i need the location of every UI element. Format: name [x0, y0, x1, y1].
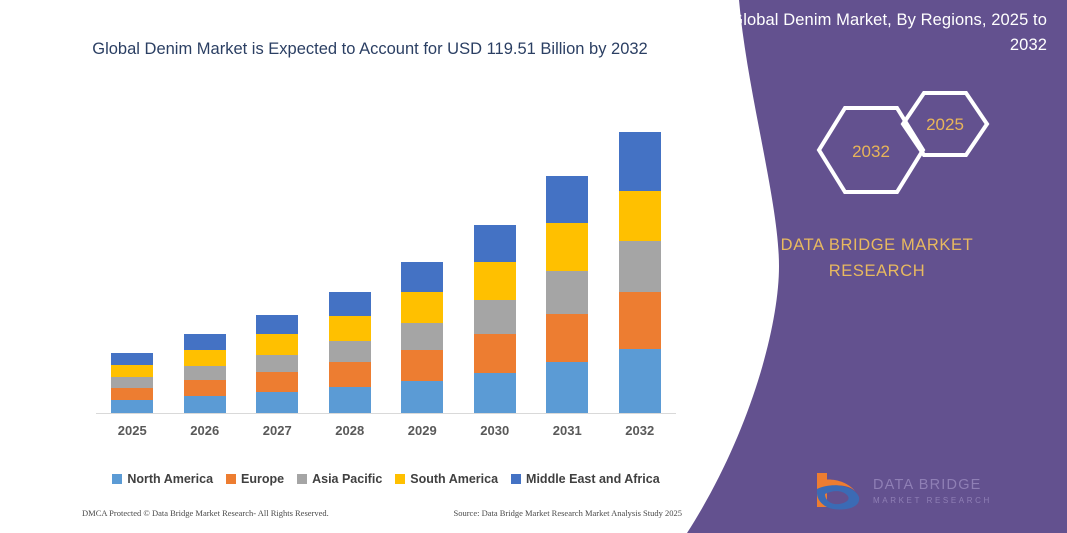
bar-segment — [474, 334, 516, 373]
bar-segment — [474, 262, 516, 301]
bar-segment — [474, 373, 516, 413]
bar-segment — [329, 341, 371, 363]
logo-mark-icon — [817, 473, 859, 510]
logo-text-bottom: MARKET RESEARCH — [873, 496, 992, 505]
bar-segment — [619, 292, 661, 349]
legend-swatch-icon — [395, 474, 405, 484]
legend-item: North America — [112, 472, 213, 486]
bar-segment — [256, 334, 298, 354]
bar-segment — [401, 350, 443, 381]
bar-segment — [256, 372, 298, 392]
brand-name-line1: DATA BRIDGE MARKET — [717, 232, 1037, 258]
legend-swatch-icon — [511, 474, 521, 484]
x-axis-label: 2028 — [314, 423, 386, 438]
bar-column — [459, 110, 531, 413]
legend-label: Middle East and Africa — [526, 472, 660, 486]
stacked-bar — [111, 353, 153, 413]
legend-item: South America — [395, 472, 498, 486]
bar-segment — [184, 350, 226, 366]
panel-title: Global Denim Market, By Regions, 2025 to… — [707, 8, 1047, 58]
hexagon-graphic: 2025 2032 — [761, 88, 1011, 213]
bar-segment — [401, 292, 443, 323]
company-logo: DATA BRIDGE MARKET RESEARCH — [805, 467, 1015, 513]
bar-segment — [184, 396, 226, 413]
bar-segment — [111, 365, 153, 377]
x-axis-label: 2029 — [386, 423, 458, 438]
bar-segment — [546, 362, 588, 413]
bar-column — [386, 110, 458, 413]
infographic-page: Global Denim Market is Expected to Accou… — [0, 0, 1067, 533]
footer-copyright: DMCA Protected © Data Bridge Market Rese… — [82, 508, 329, 518]
page-title: Global Denim Market is Expected to Accou… — [60, 36, 680, 62]
bar-segment — [329, 316, 371, 341]
logo-text-top: DATA BRIDGE — [873, 477, 982, 493]
bar-segment — [619, 191, 661, 242]
x-axis-label: 2027 — [241, 423, 313, 438]
legend-label: North America — [127, 472, 213, 486]
stacked-bar-chart — [96, 110, 676, 413]
bar-segment — [111, 353, 153, 365]
bar-column — [96, 110, 168, 413]
bar-segment — [619, 349, 661, 413]
stacked-bar — [546, 176, 588, 413]
bar-column — [314, 110, 386, 413]
bar-column — [169, 110, 241, 413]
bar-segment — [184, 366, 226, 380]
legend-label: South America — [410, 472, 498, 486]
bar-segment — [474, 300, 516, 334]
bar-segment — [546, 271, 588, 313]
bar-segment — [184, 380, 226, 396]
bar-segment — [619, 241, 661, 292]
stacked-bar — [474, 225, 516, 413]
bar-segment — [256, 392, 298, 413]
bar-segment — [401, 381, 443, 413]
x-axis-label: 2026 — [169, 423, 241, 438]
x-axis-label: 2025 — [96, 423, 168, 438]
bar-column — [604, 110, 676, 413]
bar-segment — [546, 223, 588, 272]
footer: DMCA Protected © Data Bridge Market Rese… — [82, 508, 682, 518]
legend-label: Europe — [241, 472, 284, 486]
bar-segment — [401, 262, 443, 292]
x-axis-label: 2031 — [531, 423, 603, 438]
bar-segment — [619, 132, 661, 190]
bar-column — [241, 110, 313, 413]
bar-segment — [329, 292, 371, 316]
bar-segment — [401, 323, 443, 350]
bar-segment — [256, 315, 298, 334]
stacked-bar — [329, 292, 371, 413]
stacked-bar — [256, 315, 298, 413]
bar-segment — [474, 225, 516, 262]
x-axis-label: 2030 — [459, 423, 531, 438]
legend-swatch-icon — [226, 474, 236, 484]
bar-segment — [546, 176, 588, 223]
legend-label: Asia Pacific — [312, 472, 382, 486]
footer-source: Source: Data Bridge Market Research Mark… — [453, 508, 682, 518]
bar-segment — [256, 355, 298, 372]
hexagon-2025-label: 2025 — [926, 115, 964, 134]
bar-segment — [111, 388, 153, 400]
x-axis-line — [96, 413, 676, 414]
stacked-bar — [619, 132, 661, 413]
legend-item: Europe — [226, 472, 284, 486]
legend-item: Middle East and Africa — [511, 472, 660, 486]
bar-segment — [111, 377, 153, 388]
bar-segment — [111, 400, 153, 413]
x-axis-labels: 20252026202720282029203020312032 — [96, 423, 676, 438]
legend-item: Asia Pacific — [297, 472, 382, 486]
bar-segment — [184, 334, 226, 349]
bar-segment — [546, 314, 588, 363]
chart-legend: North AmericaEuropeAsia PacificSouth Ame… — [96, 472, 676, 486]
stacked-bar — [401, 262, 443, 413]
brand-panel: Global Denim Market, By Regions, 2025 to… — [687, 0, 1067, 533]
bar-column — [531, 110, 603, 413]
hexagon-2025: 2025 — [903, 93, 987, 155]
bar-segment — [329, 387, 371, 413]
hexagon-2032-label: 2032 — [852, 142, 890, 161]
legend-swatch-icon — [297, 474, 307, 484]
stacked-bar — [184, 334, 226, 413]
brand-name: DATA BRIDGE MARKET RESEARCH — [717, 232, 1037, 284]
brand-name-line2: RESEARCH — [717, 258, 1037, 284]
x-axis-label: 2032 — [604, 423, 676, 438]
bar-segment — [329, 362, 371, 387]
legend-swatch-icon — [112, 474, 122, 484]
